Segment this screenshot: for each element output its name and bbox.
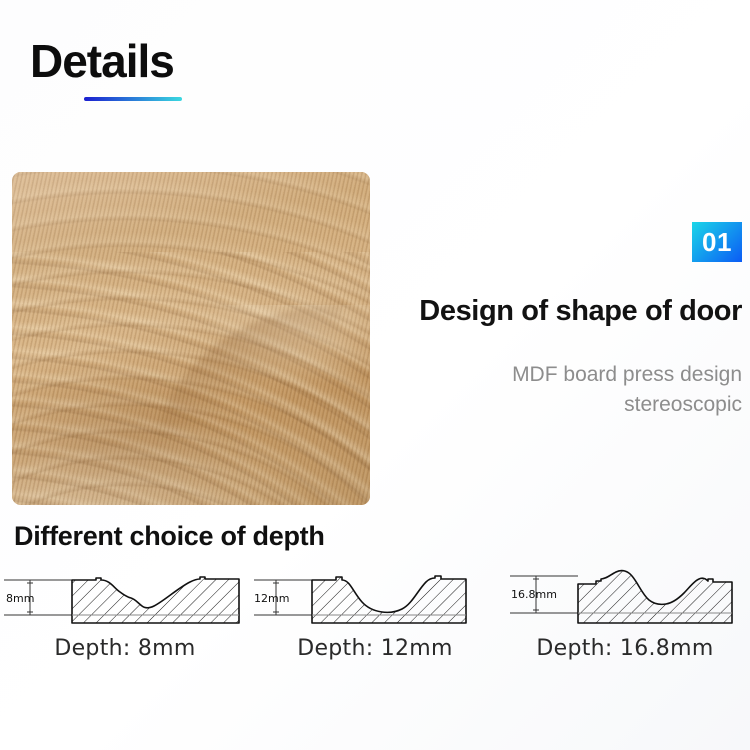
depth-profile-diagram-16-8mm: 16.8mm [500,566,750,636]
board-cross-section-12mm [312,576,466,623]
feature-subtitle-line-2: stereoscopic [322,390,742,420]
depth-profile-diagram-8mm: 8mm [0,566,250,636]
feature-subtitle-line-1: MDF board press design [322,360,742,390]
depth-caption-12mm: Depth: 12mm [250,636,500,661]
depth-options-row: 8mm Depth: 8mm [0,566,750,676]
depth-caption-8mm: Depth: 8mm [0,636,250,661]
dimension-label-16-8mm: 16.8mm [511,588,557,601]
depth-section-heading: Different choice of depth [14,521,325,552]
feature-heading: Design of shape of door [419,295,742,328]
depth-option-8mm: 8mm Depth: 8mm [0,566,250,676]
dimension-label-8mm: 8mm [6,592,34,605]
depth-caption-16-8mm: Depth: 16.8mm [500,636,750,661]
board-cross-section-8mm [72,577,239,623]
dimension-label-12mm: 12mm [254,592,289,605]
depth-option-16-8mm: 16.8mm Depth: 16.8mm [500,566,750,676]
page-title: Details [30,38,174,84]
board-cross-section-16-8mm [578,571,732,623]
photo-sheen-overlay [12,172,370,505]
wood-panel-image [12,172,370,505]
title-underline-accent [84,97,182,101]
feature-number-badge: 01 [692,222,742,262]
depth-option-12mm: 12mm Depth: 12mm [250,566,500,676]
details-page: Details 01 Design of shape of door MDF b… [0,0,750,750]
depth-profile-diagram-12mm: 12mm [250,566,500,636]
feature-subtitle: MDF board press design stereoscopic [322,360,742,421]
